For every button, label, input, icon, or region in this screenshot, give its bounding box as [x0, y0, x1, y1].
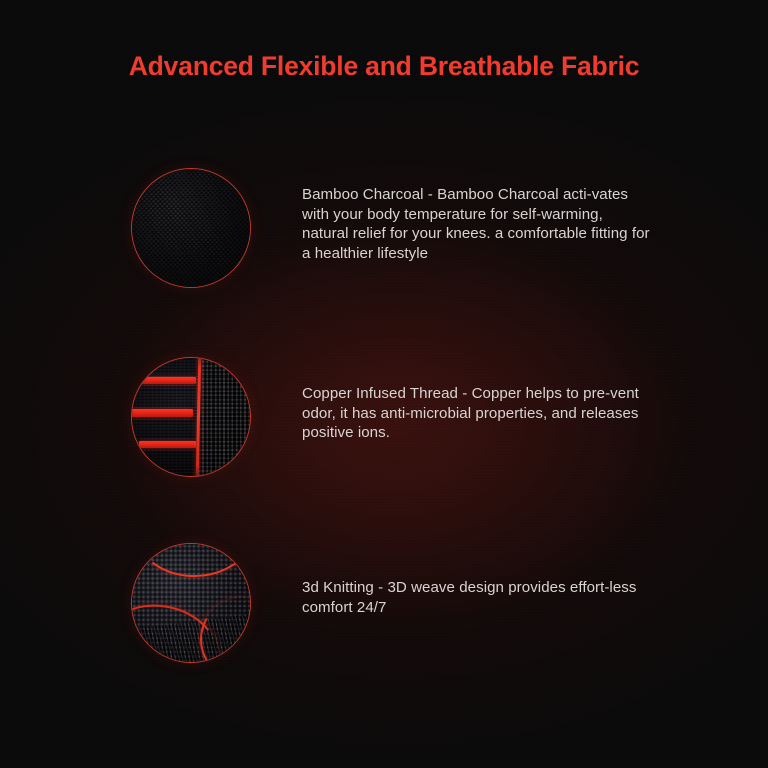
red-curved-seam [132, 543, 251, 580]
honeycomb-mesh-texture [132, 544, 250, 662]
woven-texture [132, 169, 250, 287]
red-stripe [131, 409, 193, 417]
3d-knitting-fabric-swatch [131, 543, 251, 663]
feature-description: 3d Knitting - 3D weave design provides e… [302, 578, 652, 617]
feature-description: Copper Infused Thread - Copper helps to … [302, 384, 652, 443]
bamboo-charcoal-fabric-swatch [131, 168, 251, 288]
ribbed-texture [132, 358, 250, 476]
red-stripe [141, 377, 195, 384]
copper-infused-thread-fabric-swatch [131, 357, 251, 477]
ribbed-texture-right-panel [198, 358, 250, 476]
feature-description: Bamboo Charcoal - Bamboo Charcoal acti-v… [302, 185, 652, 263]
page-title: Advanced Flexible and Breathable Fabric [0, 51, 768, 82]
red-stripe [139, 441, 196, 448]
